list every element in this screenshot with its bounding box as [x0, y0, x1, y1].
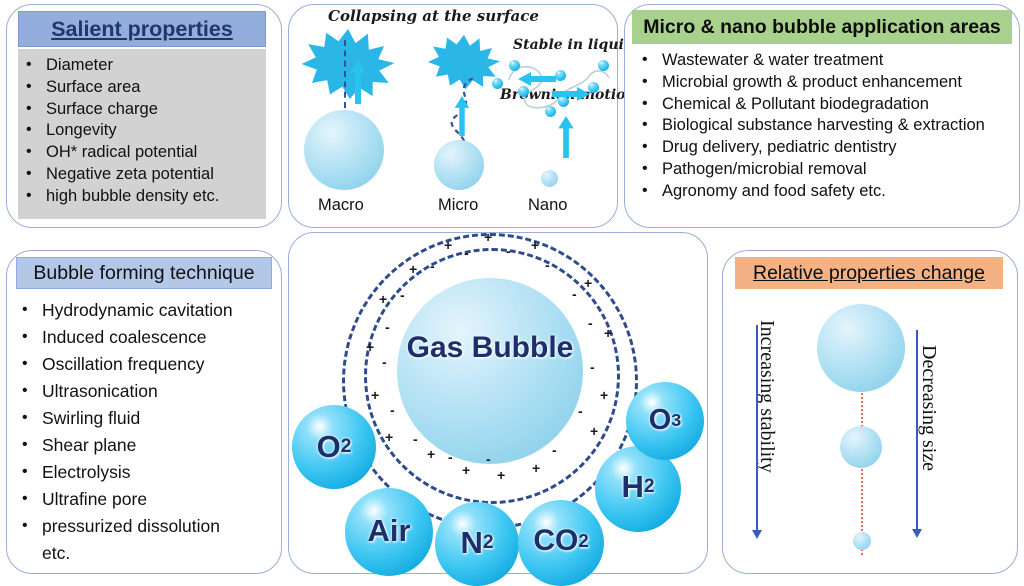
nano-label: Nano [528, 196, 567, 215]
salient-properties-listbox: Diameter Surface area Surface charge Lon… [18, 49, 266, 219]
applications-title: Micro & nano bubble application areas [643, 16, 1001, 39]
charge-minus: - [413, 432, 418, 446]
nano-bubble-dot [545, 106, 556, 117]
central-gas-bubble-label: Gas Bubble [397, 330, 583, 366]
charge-minus: - [590, 360, 595, 374]
list-item: Ultrafine pore [14, 486, 280, 513]
list-item: Shear plane [14, 432, 280, 459]
central-gas-bubble [397, 278, 583, 464]
list-item: Electrolysis [14, 459, 280, 486]
salient-properties-title: Salient properties [51, 17, 233, 42]
list-item: OH* radical potential [18, 142, 266, 164]
charge-plus: + [462, 463, 470, 477]
charge-plus: + [366, 340, 374, 354]
charge-plus: + [590, 424, 598, 438]
right-axis-arrowhead [912, 529, 922, 538]
charge-minus: - [448, 450, 453, 464]
list-item: Ultrasonication [14, 378, 280, 405]
nano-rise-arrow [558, 116, 574, 158]
nano-bubble-dot [492, 78, 503, 89]
micro-rise-arrow [454, 96, 470, 136]
relative-bubble-large [817, 304, 905, 392]
list-item: high bubble density etc. [18, 186, 266, 208]
axis-label-increasing-stability: Increasing stability [755, 320, 778, 473]
nano-bubble-dot [509, 60, 520, 71]
charge-plus: + [409, 262, 417, 276]
left-axis-arrowhead [752, 530, 762, 539]
charge-plus: + [371, 388, 379, 402]
list-item: Agronomy and food safety etc. [634, 181, 1020, 203]
annotation-stable-in-liquid: Stable in liquid [513, 37, 634, 53]
charge-minus: - [390, 403, 395, 417]
list-item: Induced coalescence [14, 324, 280, 351]
left-axis-line [756, 325, 758, 533]
macro-rise-arrow [350, 60, 366, 104]
macro-bubble [304, 110, 384, 190]
nano-bubble-dot [555, 70, 566, 81]
relative-bubble-small [853, 532, 871, 550]
gas-bubble-h2-label: H2 [595, 470, 681, 504]
macro-collapse-starburst [300, 28, 396, 100]
relative-properties-header: Relative properties change [735, 257, 1003, 289]
charge-plus: + [379, 292, 387, 306]
applications-header: Micro & nano bubble application areas [632, 10, 1012, 44]
list-item: Hydrodynamic cavitation [14, 297, 280, 324]
list-item: Negative zeta potential [18, 164, 266, 186]
annotation-collapsing-at-surface: Collapsing at the surface [328, 7, 539, 25]
charge-minus: - [506, 244, 511, 258]
list-item: Diameter [18, 55, 266, 77]
technique-trailing-etc: etc. [14, 540, 280, 566]
charge-plus: + [444, 238, 452, 252]
technique-title: Bubble forming technique [33, 262, 254, 285]
relative-bubble-medium [840, 426, 882, 468]
infographic-root: Salient properties Diameter Surface area… [0, 0, 1024, 578]
macro-label: Macro [318, 196, 364, 215]
charge-minus: - [578, 404, 583, 418]
gas-bubble-n2-label: N2 [435, 526, 519, 560]
charge-minus: - [552, 443, 557, 457]
nano-bubble-dot [518, 86, 529, 97]
gas-bubble-co2-label: CO2 [518, 524, 604, 558]
gas-bubble-o3-label: O3 [626, 404, 704, 436]
axis-label-decreasing-size: Decreasing size [917, 345, 940, 471]
salient-properties-list: Diameter Surface area Surface charge Lon… [18, 49, 266, 208]
micro-bubble [434, 140, 484, 190]
list-item: Longevity [18, 120, 266, 142]
list-item: Oscillation frequency [14, 351, 280, 378]
right-axis-line [916, 330, 918, 532]
list-item: Surface charge [18, 99, 266, 121]
list-item: Pathogen/microbial removal [634, 159, 1020, 181]
charge-minus: - [588, 316, 593, 330]
micro-label: Micro [438, 196, 478, 215]
technique-header: Bubble forming technique [16, 257, 272, 289]
charge-plus: + [604, 326, 612, 340]
relative-properties-title: Relative properties change [753, 262, 985, 285]
brownian-arrow-left [518, 72, 556, 86]
charge-minus: - [385, 320, 390, 334]
list-item: Wastewater & water treatment [634, 50, 1020, 72]
list-item: Microbial growth & product enhancement [634, 72, 1020, 94]
list-item: Drug delivery, pediatric dentistry [634, 137, 1020, 159]
applications-list: Wastewater & water treatment Microbial g… [634, 50, 1020, 203]
charge-minus: - [382, 355, 387, 369]
charge-plus: + [484, 230, 492, 244]
charge-plus: + [600, 388, 608, 402]
nano-bubble-dot [598, 60, 609, 71]
brownian-arrow-right [552, 87, 590, 101]
charge-plus: + [385, 430, 393, 444]
charge-minus: - [430, 259, 435, 273]
charge-plus: + [532, 461, 540, 475]
charge-minus: - [464, 246, 469, 260]
charge-minus: - [572, 287, 577, 301]
charge-plus: + [531, 238, 539, 252]
nano-bubble [541, 170, 558, 187]
charge-plus: + [584, 276, 592, 290]
charge-plus: + [427, 447, 435, 461]
charge-plus: + [497, 468, 505, 482]
list-item: Swirling fluid [14, 405, 280, 432]
salient-properties-header: Salient properties [18, 11, 266, 47]
list-item: pressurized dissolution [14, 513, 280, 540]
gas-bubble-air-label: Air [345, 513, 433, 549]
technique-list: Hydrodynamic cavitation Induced coalesce… [14, 297, 280, 566]
charge-minus: - [400, 288, 405, 302]
list-item: Biological substance harvesting & extrac… [634, 115, 1020, 137]
charge-minus: - [545, 258, 550, 272]
list-item: Surface area [18, 77, 266, 99]
gas-bubble-o2-label: O2 [292, 430, 376, 464]
list-item: Chemical & Pollutant biodegradation [634, 94, 1020, 116]
charge-minus: - [486, 452, 491, 466]
